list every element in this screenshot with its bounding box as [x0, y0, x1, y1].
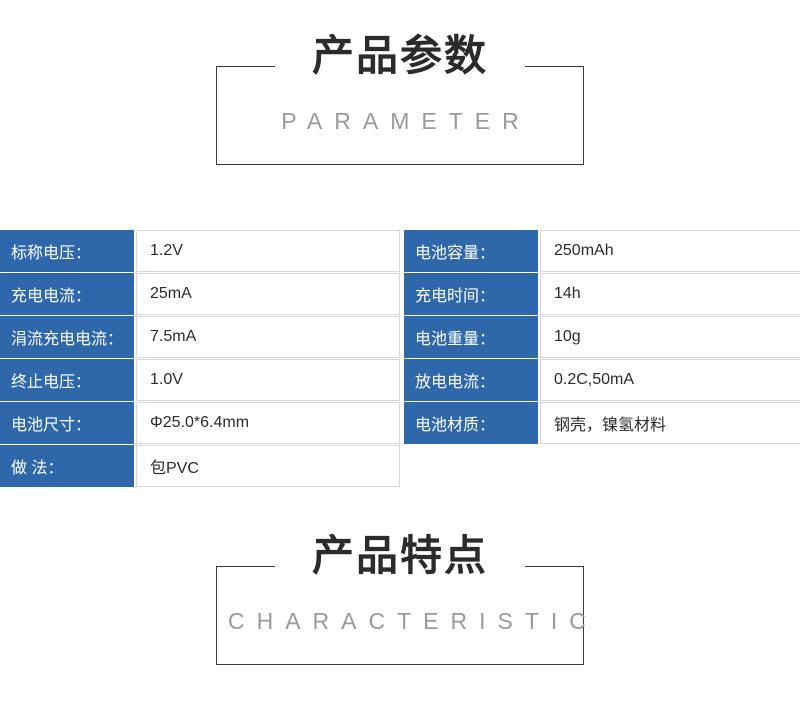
- spec-value-battery-weight: 10g: [540, 316, 800, 358]
- spec-label-discharge-current: 放电电流：: [404, 359, 538, 401]
- spec-label-nominal-voltage: 标称电压：: [0, 230, 134, 272]
- table-row: 标称电压： 1.2V 电池容量： 250mAh: [0, 230, 800, 272]
- spec-value-battery-capacity: 250mAh: [540, 230, 800, 272]
- table-row: 充电电流： 25mA 充电时间： 14h: [0, 273, 800, 315]
- heading-title-en-characteristic: CHARACTERISTIC: [216, 610, 584, 633]
- heading-title-cn-characteristic: 产品特点: [216, 535, 584, 577]
- table-row: 涓流充电电流： 7.5mA 电池重量： 10g: [0, 316, 800, 358]
- table-row: 电池尺寸： Φ25.0*6.4mm 电池材质： 钢壳，镍氢材料: [0, 402, 800, 444]
- spec-value-cutoff-voltage: 1.0V: [136, 359, 400, 401]
- spec-value-nominal-voltage: 1.2V: [136, 230, 400, 272]
- table-row: 终止电压： 1.0V 放电电流： 0.2C,50mA: [0, 359, 800, 401]
- spec-label-battery-size: 电池尺寸：: [0, 402, 134, 444]
- spec-value-charge-current: 25mA: [136, 273, 400, 315]
- spec-label-battery-weight: 电池重量：: [404, 316, 538, 358]
- spec-label-finish: 做 法：: [0, 445, 134, 487]
- table-row: 做 法： 包PVC: [0, 445, 800, 487]
- spec-label-cutoff-voltage: 终止电压：: [0, 359, 134, 401]
- section-heading-parameter: 产品参数 PARAMETER: [216, 66, 584, 165]
- spec-value-discharge-current: 0.2C,50mA: [540, 359, 800, 401]
- heading-title-en-parameter: PARAMETER: [216, 110, 584, 133]
- product-spec-page: { "sections": { "parameter": { "title_cn…: [0, 0, 800, 717]
- spec-label-trickle-charge-current: 涓流充电电流：: [0, 316, 134, 358]
- spec-value-charge-time: 14h: [540, 273, 800, 315]
- spec-label-battery-capacity: 电池容量：: [404, 230, 538, 272]
- spec-label-charge-current: 充电电流：: [0, 273, 134, 315]
- spec-value-trickle-charge-current: 7.5mA: [136, 316, 400, 358]
- spec-value-battery-material: 钢壳，镍氢材料: [540, 402, 800, 444]
- spec-value-finish: 包PVC: [136, 445, 400, 487]
- section-heading-characteristic: 产品特点 CHARACTERISTIC: [216, 566, 584, 665]
- spec-table: 标称电压： 1.2V 电池容量： 250mAh 充电电流： 25mA 充电时间：…: [0, 230, 800, 488]
- spec-label-charge-time: 充电时间：: [404, 273, 538, 315]
- heading-title-cn-parameter: 产品参数: [216, 35, 584, 77]
- spec-label-battery-material: 电池材质：: [404, 402, 538, 444]
- spec-value-battery-size: Φ25.0*6.4mm: [136, 402, 400, 444]
